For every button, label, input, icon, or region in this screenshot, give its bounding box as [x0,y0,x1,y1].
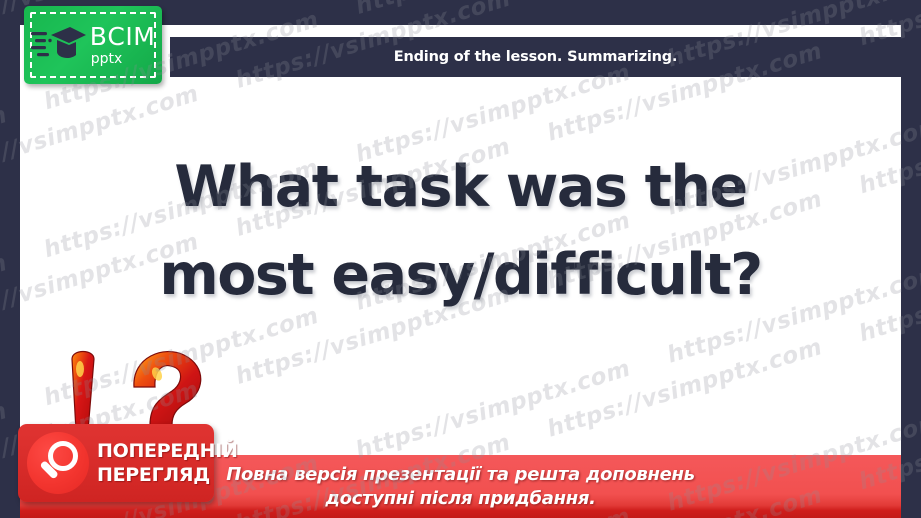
slide-header-bar: Ending of the lesson. Summarizing. [170,37,901,77]
question-block: What task was the most easy/difficult? [20,143,901,319]
magnifier-icon [27,432,89,494]
preview-badge[interactable]: ПОПЕРЕДНІЙ ПЕРЕГЛЯД [18,424,214,502]
watermark-text: https://vsimpptx.com [0,0,10,62]
question-line-1: What task was the [20,143,901,231]
logo-sub-text: pptx [91,52,123,66]
vsimpptx-logo[interactable]: ВСІМ pptx [24,6,162,84]
graduation-cap-icon [31,21,87,69]
banner-line-2: доступні після придбання. [325,487,595,511]
watermark-text: https://vsimpptx.com [0,398,10,506]
logo-main-text: ВСІМ [90,24,156,49]
watermark-text: https://vsimpptx.com [0,102,10,210]
watermark-text: https://vsimpptx.com [353,0,634,20]
preview-label-line-2: ПЕРЕГЛЯД [97,466,238,485]
watermark-text: https://vsimpptx.com [0,250,10,358]
preview-label-line-1: ПОПЕРЕДНІЙ [97,442,238,461]
question-line-2: most easy/difficult? [20,231,901,319]
slide-header-title: Ending of the lesson. Summarizing. [394,49,677,65]
slide-viewer: Ending of the lesson. Summarizing. What … [0,0,921,518]
banner-line-1: Повна версія презентації та решта доповн… [226,463,695,487]
